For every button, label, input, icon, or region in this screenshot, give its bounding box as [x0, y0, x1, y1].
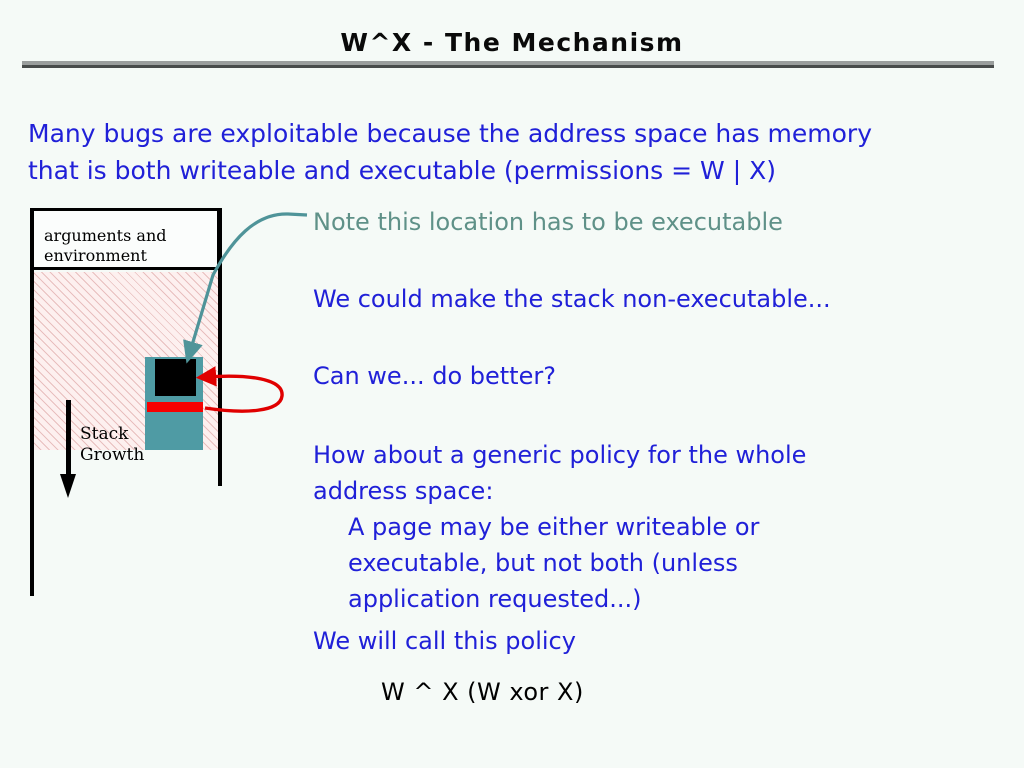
- policy-name-wx: W ^ X (W xor X): [381, 676, 1003, 708]
- policy-statement: A page may be either writeable or execut…: [348, 509, 1003, 617]
- note-executable-text: Note this location has to be executable: [313, 206, 1003, 238]
- return-address-bar: [147, 402, 203, 412]
- stack-growth-line-2: Growth: [80, 445, 144, 466]
- line-non-executable-stack: We could make the stack non-executable..…: [313, 283, 1003, 316]
- spacer-2: [313, 316, 1003, 360]
- policy-statement-line-1: A page may be either writeable or: [348, 509, 1003, 545]
- spacer-1: [313, 238, 1003, 283]
- stack-memory-diagram: arguments and environment Stack Growth: [0, 0, 330, 620]
- policy-question-line-1: How about a generic policy for the whole: [313, 437, 1003, 473]
- address-space-right-border: [218, 208, 222, 486]
- policy-statement-line-2: executable, but not both (unless: [348, 545, 1003, 581]
- stack-growth-arrow: [58, 400, 80, 498]
- policy-statement-line-3: application requested...): [348, 581, 1003, 617]
- stack-growth-arrow-head: [60, 474, 76, 498]
- policy-question-line-2: address space:: [313, 473, 1003, 509]
- stack-growth-arrow-shaft: [66, 400, 71, 478]
- line-call-this-policy: We will call this policy: [313, 625, 1003, 658]
- address-space-left-border: [30, 208, 34, 596]
- arg-label-line-2: environment: [44, 246, 214, 266]
- arg-label-line-1: arguments and: [44, 226, 214, 246]
- body-text-column: Note this location has to be executable …: [313, 206, 1003, 708]
- shellcode-block: [155, 359, 196, 396]
- arguments-environment-label: arguments and environment: [44, 226, 214, 266]
- generic-policy-question: How about a generic policy for the whole…: [313, 437, 1003, 509]
- spacer-3: [313, 393, 1003, 437]
- stack-growth-line-1: Stack: [80, 424, 144, 445]
- slide-canvas: W^X - The Mechanism Many bugs are exploi…: [0, 0, 1024, 768]
- stack-growth-label: Stack Growth: [80, 424, 144, 466]
- line-can-we-do-better: Can we... do better?: [313, 360, 1003, 393]
